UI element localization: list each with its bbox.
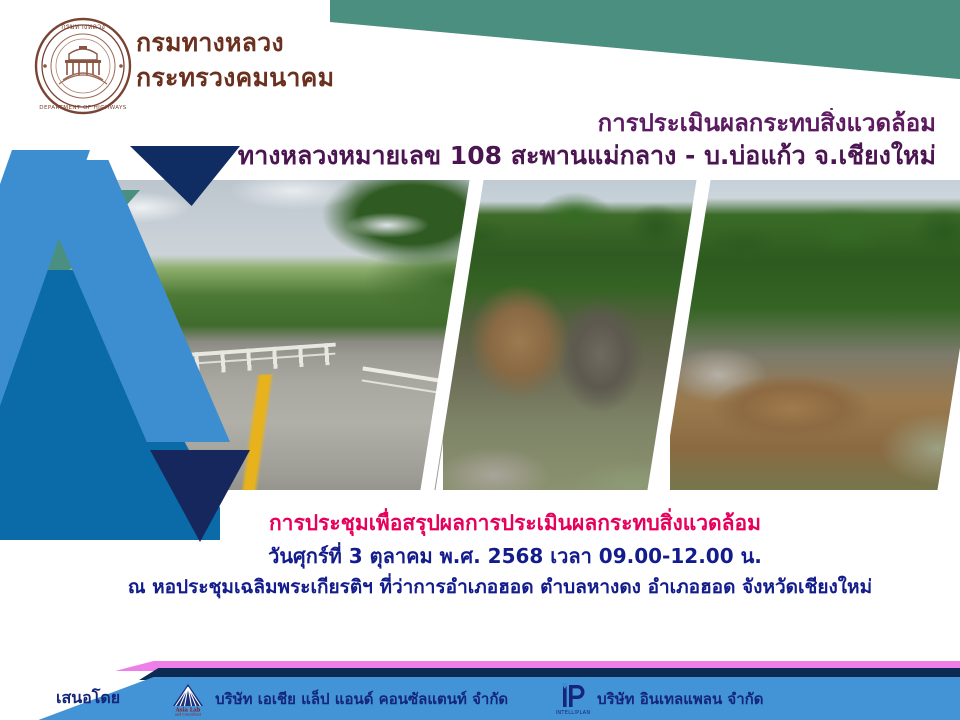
asia-lab-company-name: บริษัท เอเชีย แล็ป แอนด์ คอนซัลแตนท์ จำก… xyxy=(215,687,508,711)
intelliplan-company-name: บริษัท อินเทลแพลน จำกัด xyxy=(597,687,763,711)
org-line-2: กระทรวงคมนาคม xyxy=(136,61,334,96)
footer: เสนอโดย Asia Lab and Consultant บริษัท เ… xyxy=(0,655,960,720)
footer-content: เสนอโดย Asia Lab and Consultant บริษัท เ… xyxy=(0,677,960,720)
photo-band xyxy=(0,180,960,490)
department-of-highways-seal: กรมทางหลวง DEPARTMENT OF HIGHWAYS xyxy=(33,16,133,116)
svg-text:กรมทางหลวง: กรมทางหลวง xyxy=(61,22,105,31)
footer-company-intelliplan: INTELLIPLAN บริษัท อินเทลแพลน จำกัด xyxy=(556,681,763,717)
svg-text:INTELLIPLAN: INTELLIPLAN xyxy=(556,710,590,716)
photo-bridge-road xyxy=(35,180,484,490)
intelliplan-logo: INTELLIPLAN xyxy=(556,681,590,717)
poster-canvas: กรมทางหลวง DEPARTMENT OF HIGHWAYS กรมทาง… xyxy=(0,0,960,720)
meeting-info: การประชุมเพื่อสรุปผลการประเมินผลกระทบสิ่… xyxy=(0,508,960,602)
teal-diagonal-accent xyxy=(330,0,960,96)
project-title: การประเมินผลกระทบสิ่งแวดล้อม ทางหลวงหมาย… xyxy=(238,108,936,173)
project-title-line-1: การประเมินผลกระทบสิ่งแวดล้อม xyxy=(238,108,936,138)
meeting-heading: การประชุมเพื่อสรุปผลการประเมินผลกระทบสิ่… xyxy=(0,508,960,540)
footer-presented-by-label: เสนอโดย xyxy=(56,686,120,711)
organization-name: กรมทางหลวง กระทรวงคมนาคม xyxy=(136,26,334,95)
meeting-datetime: วันศุกร์ที่ 3 ตุลาคม พ.ศ. 2568 เวลา 09.0… xyxy=(0,540,960,572)
footer-company-asia-lab: Asia Lab and Consultant บริษัท เอเชีย แล… xyxy=(168,682,508,716)
org-line-1: กรมทางหลวง xyxy=(136,26,334,61)
road-center-line xyxy=(156,372,356,490)
svg-text:and Consultant: and Consultant xyxy=(175,712,202,715)
svg-text:DEPARTMENT OF HIGHWAYS: DEPARTMENT OF HIGHWAYS xyxy=(39,105,127,111)
sky-clouds xyxy=(48,180,472,272)
meeting-venue: ณ หอประชุมเฉลิมพระเกียรติฯ ที่ว่าการอำเภ… xyxy=(0,572,960,602)
project-title-line-2: ทางหลวงหมายเลข 108 สะพานแม่กลาง - บ.บ่อแ… xyxy=(238,140,936,173)
asia-lab-logo: Asia Lab and Consultant xyxy=(168,682,208,716)
tree-canopy xyxy=(670,180,960,308)
